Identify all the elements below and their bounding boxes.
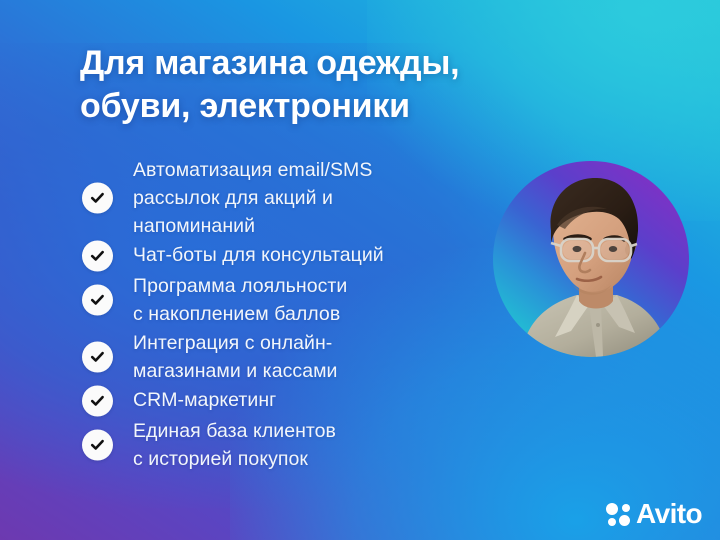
list-item-label: Интеграция с онлайн- магазинами и кассам… <box>133 329 482 385</box>
page-title: Для магазина одежды, обуви, электроники <box>80 42 600 128</box>
check-icon <box>82 386 113 417</box>
check-icon <box>82 183 113 214</box>
list-item-label: Чат-боты для консультаций <box>133 241 482 269</box>
avito-logo[interactable]: Avito <box>606 500 702 528</box>
list-item: Программа лояльности с накоплением балло… <box>82 272 482 328</box>
list-item: Интеграция с онлайн- магазинами и кассам… <box>82 329 482 385</box>
list-item-label: Единая база клиентов с историей покупок <box>133 417 482 473</box>
avatar <box>493 161 689 357</box>
list-item-label: Автоматизация email/SMS рассылок для акц… <box>133 156 482 240</box>
list-item: Единая база клиентов с историей покупок <box>82 417 482 473</box>
check-icon <box>82 430 113 461</box>
list-item: Автоматизация email/SMS рассылок для акц… <box>82 156 482 240</box>
list-item-label: Программа лояльности с накоплением балло… <box>133 272 482 328</box>
promo-slide: Для магазина одежды, обуви, электроники … <box>0 0 720 540</box>
check-icon <box>82 241 113 272</box>
avito-dots-icon <box>606 502 630 526</box>
list-item-label: CRM-маркетинг <box>133 386 482 414</box>
check-icon <box>82 285 113 316</box>
avito-wordmark: Avito <box>636 500 702 528</box>
list-item: CRM-маркетинг <box>82 386 482 416</box>
feature-list: Автоматизация email/SMS рассылок для акц… <box>82 156 482 474</box>
check-icon <box>82 342 113 373</box>
list-item: Чат-боты для консультаций <box>82 241 482 271</box>
